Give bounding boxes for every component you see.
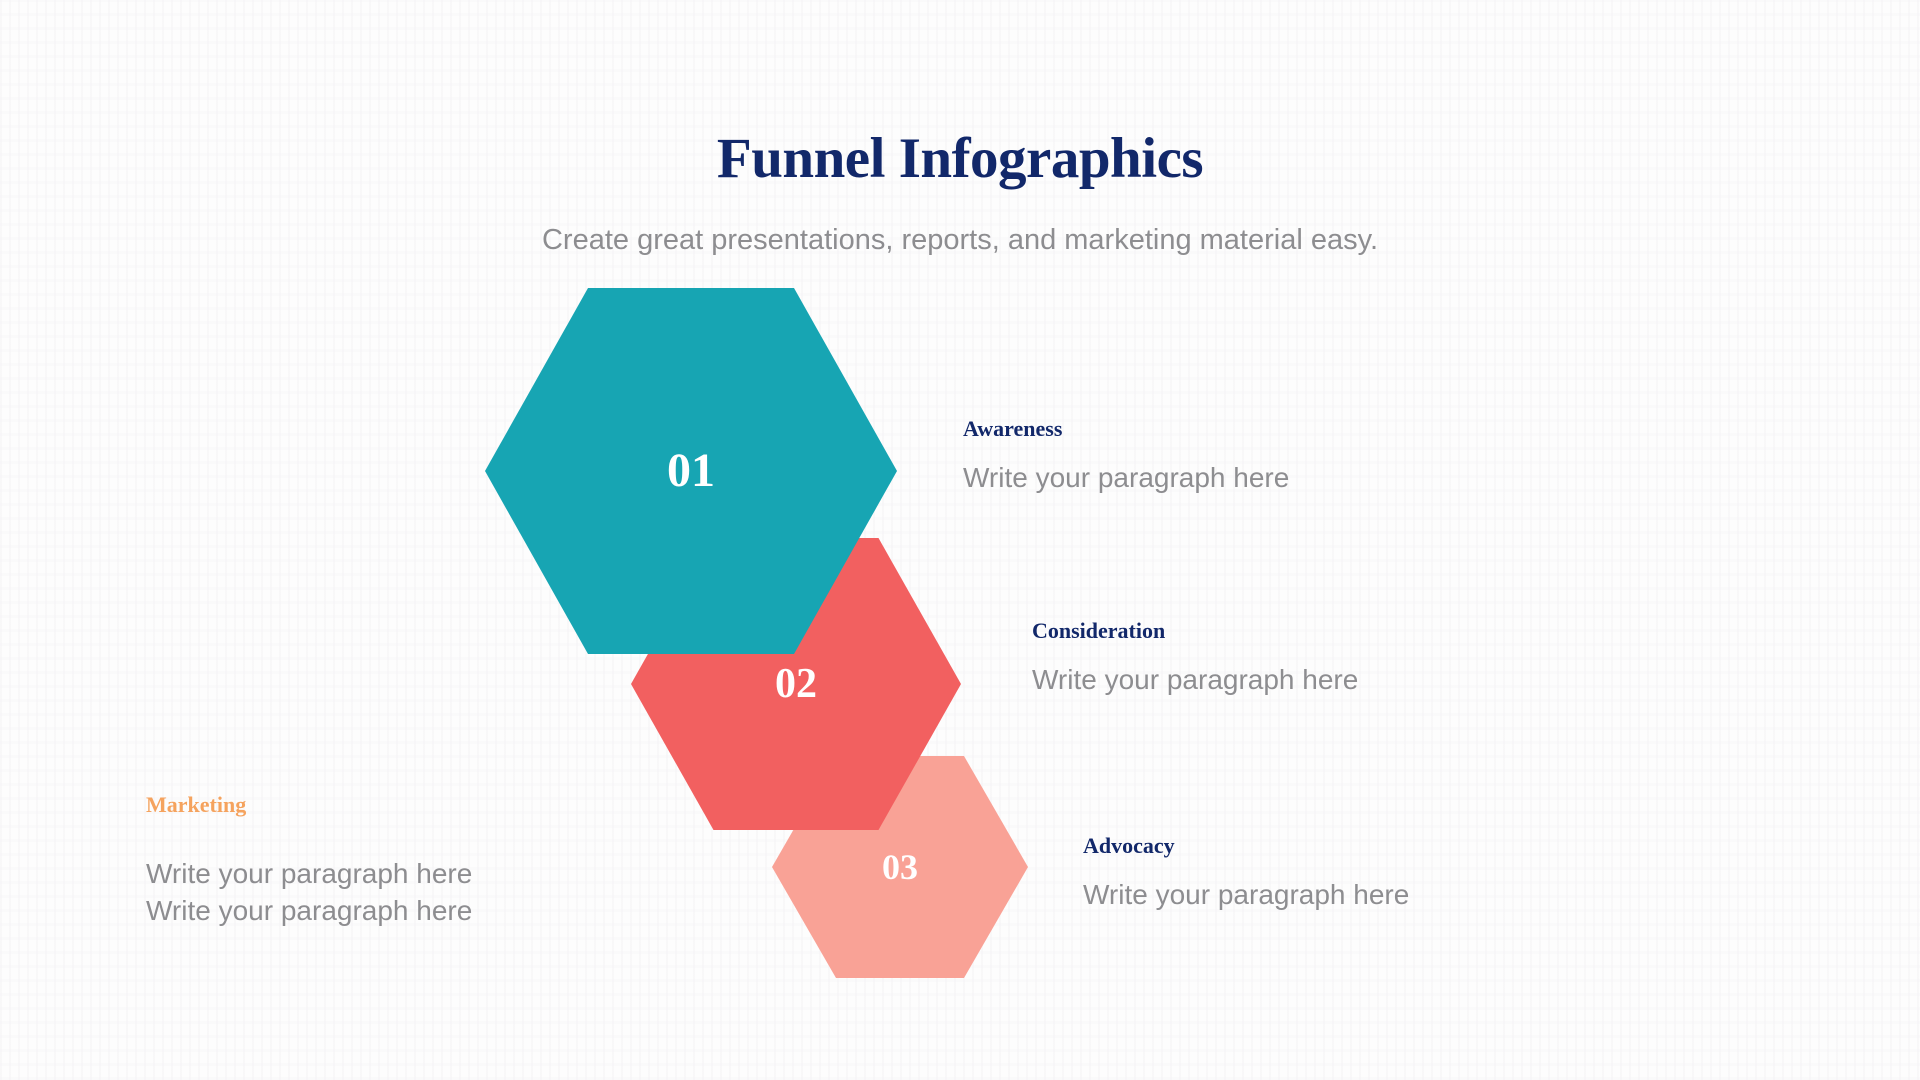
stage-body-awareness: Write your paragraph here bbox=[963, 460, 1289, 497]
side-note-marketing: Marketing Write your paragraph here Writ… bbox=[146, 794, 472, 930]
hexagon-number-01: 01 bbox=[667, 447, 715, 495]
hexagon-number-02: 02 bbox=[775, 663, 817, 705]
stage-text-block-advocacy: Advocacy Write your paragraph here bbox=[1083, 835, 1409, 914]
page-title: Funnel Infographics bbox=[0, 128, 1920, 191]
stage-title-advocacy: Advocacy bbox=[1083, 835, 1409, 857]
side-note-body-line-1: Write your paragraph here bbox=[146, 856, 472, 893]
stage-body-consideration: Write your paragraph here bbox=[1032, 662, 1358, 699]
side-note-body-line-2: Write your paragraph here bbox=[146, 893, 472, 930]
slide-canvas: Funnel Infographics Create great present… bbox=[0, 0, 1920, 1080]
hexagon-number-03: 03 bbox=[882, 849, 918, 885]
stage-text-block-awareness: Awareness Write your paragraph here bbox=[963, 418, 1289, 497]
stage-title-consideration: Consideration bbox=[1032, 620, 1358, 642]
stage-body-advocacy: Write your paragraph here bbox=[1083, 877, 1409, 914]
side-note-title: Marketing bbox=[146, 794, 472, 816]
stage-text-block-consideration: Consideration Write your paragraph here bbox=[1032, 620, 1358, 699]
stage-title-awareness: Awareness bbox=[963, 418, 1289, 440]
page-subtitle: Create great presentations, reports, and… bbox=[0, 222, 1920, 260]
